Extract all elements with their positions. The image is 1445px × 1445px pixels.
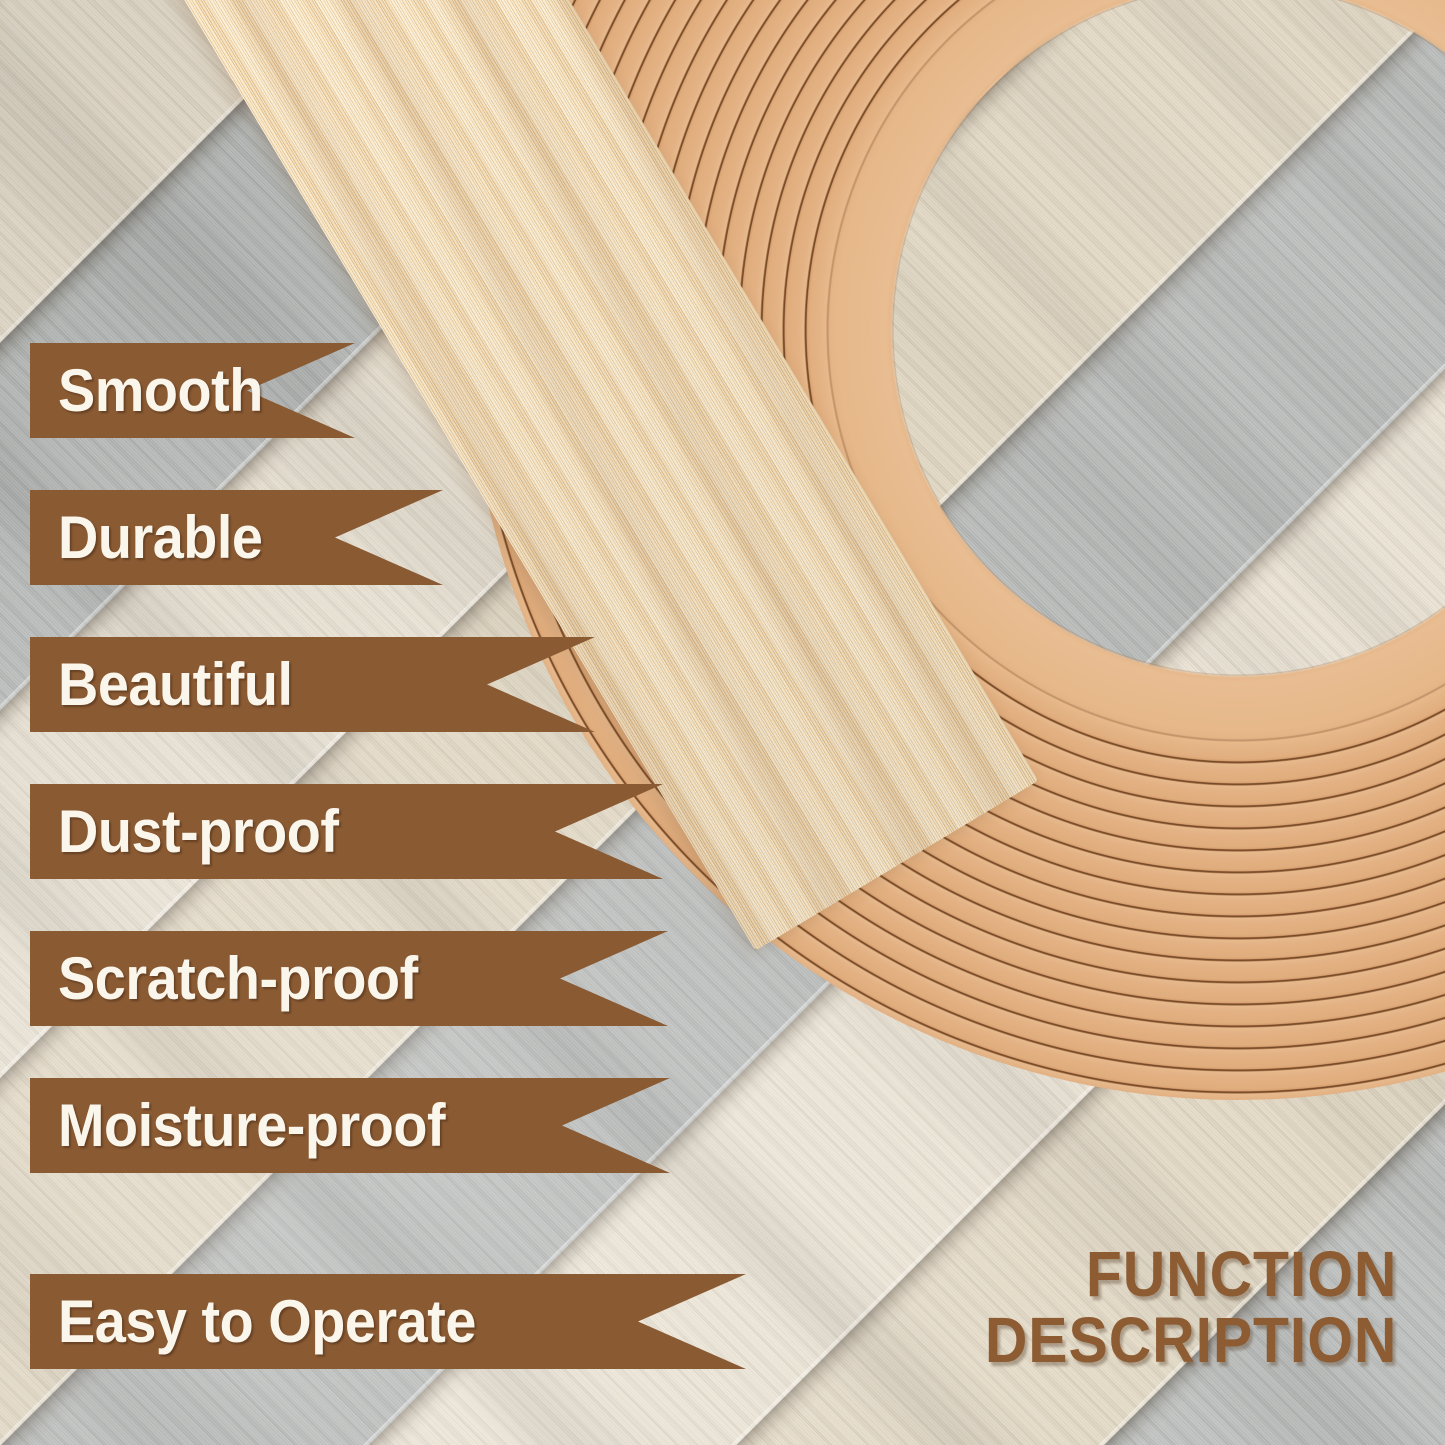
banner-label: Moisture-proof: [58, 1078, 445, 1173]
feature-banner-list: SmoothDurableBeautifulDust-proofScratch-…: [0, 0, 1445, 1445]
banner-label: Beautiful: [58, 637, 293, 732]
heading-line-2: DESCRIPTION: [984, 1308, 1397, 1373]
banner-label: Scratch-proof: [58, 931, 418, 1026]
banner-label: Easy to Operate: [58, 1274, 476, 1369]
product-feature-image: SmoothDurableBeautifulDust-proofScratch-…: [0, 0, 1445, 1445]
function-description-heading: FUNCTION DESCRIPTION: [949, 1242, 1397, 1373]
banner-label: Durable: [58, 490, 262, 585]
banner-label: Smooth: [58, 343, 263, 438]
feature-banner: Scratch-proof: [30, 931, 668, 1026]
feature-banner: Beautiful: [30, 637, 595, 732]
banner-label: Dust-proof: [58, 784, 338, 879]
feature-banner: Moisture-proof: [30, 1078, 670, 1173]
heading-line-1: FUNCTION: [984, 1242, 1397, 1307]
feature-banner: Dust-proof: [30, 784, 663, 879]
feature-banner: Smooth: [30, 343, 355, 438]
feature-banner: Durable: [30, 490, 443, 585]
feature-banner: Easy to Operate: [30, 1274, 746, 1369]
